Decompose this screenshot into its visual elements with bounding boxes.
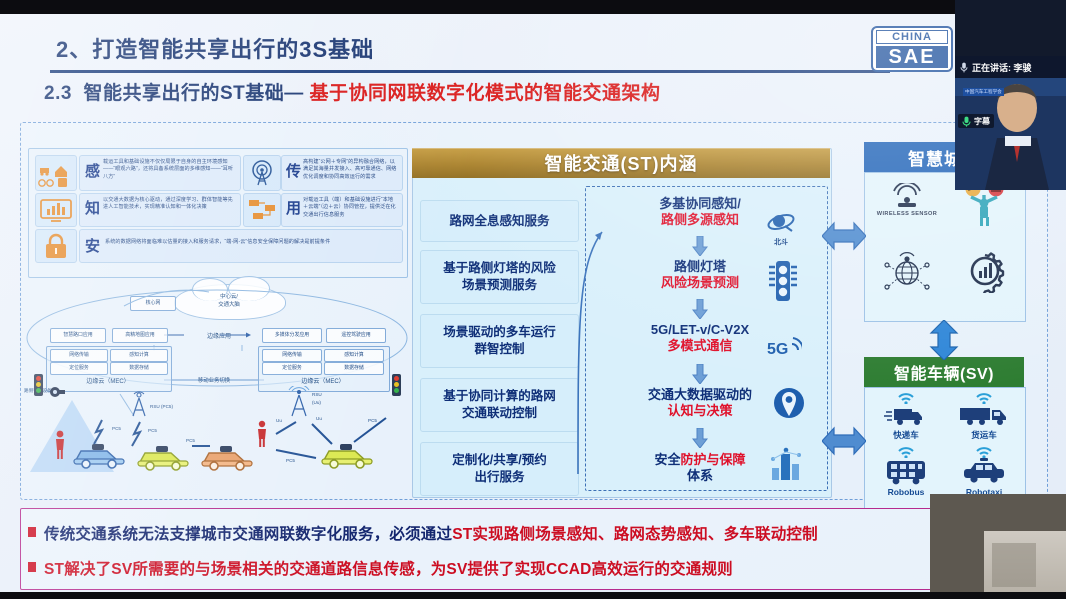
pc5-label-2: PC5 (148, 428, 157, 433)
smart-vehicle-cell-robobus: Robobus (869, 446, 943, 497)
caption-badge[interactable]: 字幕 (958, 114, 994, 128)
conclusion-line-2: ST解决了SV所需要的与场景相关的交通道路信息传感，为SV提供了实现CCAD高效… (44, 557, 733, 579)
mec-left-cell-2: 感知计算 (110, 349, 168, 362)
st-flow-5-red: 防护与保障 (681, 452, 746, 467)
st-service-label-4: 基于协同计算的路网交通联动控制 (443, 388, 556, 422)
st-service-3[interactable]: 场景驱动的多车运行群智控制 (420, 314, 579, 368)
flowchart-icon-cell (243, 193, 281, 227)
monitor-chart-icon-cell (35, 193, 77, 227)
conclusion-bullet-2 (28, 562, 36, 572)
st-flow-3-plain: 5G/LET-v/C-V2X (651, 322, 749, 337)
pc5-label-3: PC5 (186, 438, 195, 443)
subtitle-red: 基于协同网联数字化模式的智能交通架构 (310, 83, 661, 104)
conclusion-line-2-post: ，为SV提供了实现CCAD高效运行的交通规则 (415, 561, 733, 578)
capability-text-zhi: 以交通大数据为核心驱动，通过深度学习、群体智能等先进人工智能技术，实现精准认知和… (103, 197, 234, 212)
app-box-left-1: 智慧路口应用 (50, 328, 106, 343)
wifi-icon-robobus (897, 446, 915, 458)
sae-logo-line2: SAE (876, 46, 948, 68)
flow-arrow-2 (692, 299, 708, 319)
st-flow-5-plain-post: 体系 (687, 468, 713, 483)
caption-org-strip: 中国汽车工程学会 (963, 88, 1004, 96)
traffic-light-right (392, 374, 401, 396)
st-icon-beidou-caption: 北斗 (774, 237, 788, 247)
flowchart-icon (247, 197, 277, 223)
mec-right-title: 边缘云（MEC） (258, 376, 388, 385)
capability-char-chuan: 传 (286, 160, 301, 181)
transport-icons (38, 158, 74, 188)
v2x-link-layer (24, 402, 410, 482)
smart-city-cell-wireless: WIRELESS SENSOR (869, 183, 945, 217)
st-flow-5-plain-pre: 安全 (654, 452, 680, 467)
st-service-5[interactable]: 定制化/共享/预约出行服务 (420, 442, 579, 496)
flow-arrow-4 (692, 428, 708, 448)
conclusion-line-2-pre: ST解决了SV所需要的与场景相关的 (44, 561, 289, 578)
pc5-label-5: PC5 (368, 418, 377, 423)
st-flow-1-plain: 多基协同感知/ (659, 196, 741, 211)
mec-left-title: 边缘云（MEC） (46, 376, 170, 385)
bottom-black-bar (0, 592, 1066, 599)
st-panel-header: 智能交通(ST)内涵 (412, 148, 830, 178)
section-subtitle: 2.3 智能共享出行的ST基础— 基于协同网联数字化模式的智能交通架构 (44, 78, 661, 105)
conclusion-line-1-red: ST实现路侧场景感知、路网态势感知、多车联动控制 (452, 526, 818, 543)
mec-right-cell-3: 定位服务 (262, 362, 322, 375)
rsu-right-label-1: RSU (312, 392, 322, 397)
subtitle-number: 2.3 (44, 83, 72, 104)
wifi-icon-robotaxi (975, 446, 993, 458)
iot-network-globe-icon (882, 247, 932, 293)
conclusion-line-1-pre: 传统交通系统无法支撑城市交通网联数字化服务，必须通过 (44, 526, 452, 543)
mec-left-cell-3: 定位服务 (50, 362, 108, 375)
speaking-banner: 正在讲话: 李骏 (955, 56, 1066, 78)
st-service-label-2: 基于路侧灯塔的风险场景预测服务 (443, 260, 556, 294)
freight-truck-icon (958, 404, 1010, 428)
wifi-icon-van (897, 392, 915, 404)
beidou-icon (766, 212, 796, 236)
smart-city-cell-wireless-label: WIRELESS SENSOR (877, 211, 937, 217)
speaking-label: 正在讲话: 李骏 (972, 61, 1032, 74)
camera-pole-icon (46, 386, 68, 402)
edge-app-label: 边缘应用 (184, 331, 254, 340)
smart-city-cell-iot (869, 247, 945, 295)
app-box-left-2: 高精地图应用 (112, 328, 168, 343)
robobus-icon (883, 458, 929, 486)
antenna-icon (247, 159, 277, 187)
arrow-st-to-smart-vehicle (822, 424, 866, 458)
china-sae-logo: CHINA SAE (871, 26, 953, 72)
st-service-1[interactable]: 路网全息感知服务 (420, 200, 579, 242)
podium (984, 531, 1066, 599)
arrow-st-to-smart-city (822, 219, 866, 253)
sae-logo-line1: CHINA (876, 30, 948, 44)
flow-arrow-3 (692, 364, 708, 384)
flow-arrow-1 (692, 236, 708, 256)
smart-city-cell-gear (947, 249, 1023, 295)
st-flow-2-plain: 路侧灯塔 (674, 259, 726, 274)
uu-label-1: Uu (276, 418, 282, 423)
capability-text-chuan: 高构建“公网＋专网”的异构融合网络，以满足其海量并发接入、高可靠通信、网络优化调… (303, 159, 397, 181)
presentation-slide: 2、打造智能共享出行的3S基础 2.3 智能共享出行的ST基础— 基于协同网联数… (0, 14, 1066, 592)
traffic-light-icon (766, 259, 800, 303)
location-pin-icon (772, 386, 806, 424)
capability-char-yong: 用 (286, 197, 301, 218)
podium-panel (992, 543, 1036, 587)
st-flow-3-red: 多模式通信 (667, 338, 732, 353)
delivery-van-icon (884, 404, 928, 428)
gear-analytics-icon (961, 249, 1009, 293)
capability-text-gan: 载运工具和基础设施不仅仅局限于自身的自主环境感知——“眼观六路”，还将具备系统层… (103, 159, 234, 181)
subtitle-black: 智能共享出行的ST基础— (83, 83, 303, 104)
screenshot-root: 2、打造智能共享出行的3S基础 2.3 智能共享出行的ST基础— 基于协同网联数… (0, 0, 1066, 599)
capability-text-an: 系统的数据网络将面临难以估量的接入和服务请求，“端-网-云”信息安全保障问题的解… (105, 239, 397, 246)
transport-icons-cell (35, 155, 77, 191)
monitor-chart-icon (39, 197, 73, 223)
smart-vehicle-cell-robotaxi: Robotaxi (947, 446, 1021, 497)
svg-text:5G: 5G (767, 341, 788, 358)
smart-vehicle-cell-truck: 货运车 (947, 392, 1021, 441)
caption-org-tag: 中国汽车工程学会 (963, 88, 1004, 96)
5g-icon: 5G (766, 332, 802, 358)
capability-char-an: 安 (85, 235, 100, 256)
smart-vehicle-label-robobus: Robobus (888, 487, 925, 497)
conclusion-line-2-red: 交通道路信息传感 (289, 561, 415, 578)
st-service-2[interactable]: 基于路侧灯塔的风险场景预测服务 (420, 250, 579, 304)
app-box-right-1: 多媒体分发应用 (262, 328, 322, 343)
lock-icon-cell (35, 229, 77, 263)
st-flow-4: 交通大数据驱动的 认知与决策 (600, 387, 800, 419)
mec-left-cell-4: 数据存储 (110, 362, 168, 375)
title-divider (50, 70, 890, 73)
conclusion-bullet-1 (28, 527, 36, 537)
conclusion-line-1: 传统交通系统无法支撑城市交通网联数字化服务，必须通过ST实现路侧场景感知、路网态… (44, 522, 818, 544)
video-overlay[interactable]: 正在讲话: 李骏 中国汽车工程学会 字幕 (955, 0, 1066, 190)
pc5-label-4: PC5 (286, 458, 295, 463)
network-architecture-diagram: 中心云/ 交通大脑 核心网 边缘应用 智慧路口应用 高精地图应用 网 (24, 282, 410, 494)
caption-badge-label: 字幕 (974, 116, 990, 127)
robotaxi-icon (960, 458, 1008, 486)
microphone-badge-icon (962, 116, 971, 127)
microphone-icon (960, 62, 968, 73)
capability-text-yong: 对载运工具（端）和基础设施进行“本地＋云端”（边＋云）协同管控，提供泛在化交通出… (303, 197, 397, 219)
mec-right-cell-1: 网络传输 (262, 349, 322, 362)
handover-label: 移动业务切换 (176, 376, 252, 384)
lock-icon (43, 232, 69, 260)
st-flow-4-plain: 交通大数据驱动的 (648, 387, 752, 402)
uu-label-2: Uu (316, 416, 322, 421)
smart-vehicle-panel: 快递车 货运车 (864, 387, 1026, 509)
capability-card: 感 载运工具和基础设施不仅仅局限于自身的自主环境感知——“眼观六路”，还将具备系… (28, 148, 408, 278)
smart-vehicle-label-truck: 货运车 (971, 429, 997, 441)
smart-vehicle-cell-van: 快递车 (869, 392, 943, 441)
smart-city-network-icon (766, 446, 806, 484)
capability-char-gan: 感 (85, 160, 100, 181)
st-flow-2-red: 风险场景预测 (661, 275, 739, 290)
capability-char-zhi: 知 (85, 197, 100, 218)
top-black-bar (0, 0, 1066, 14)
arrow-city-to-vehicle (929, 320, 959, 360)
st-flow-1-red: 路侧多源感知 (661, 212, 739, 227)
mec-left-cell-1: 网络传输 (50, 349, 108, 362)
smart-city-panel: WIRELESS SENSOR (864, 172, 1026, 322)
st-service-label-5: 定制化/共享/预约出行服务 (452, 452, 546, 486)
smart-vehicle-header: 智能车辆(SV) (864, 357, 1024, 387)
mec-right-cell-2: 感知计算 (324, 349, 384, 362)
st-service-4[interactable]: 基于协同计算的路网交通联动控制 (420, 378, 579, 432)
antenna-icon-cell (243, 155, 281, 191)
st-icon-beidou: 北斗 (766, 212, 796, 247)
st-panel-title: 智能交通(ST)内涵 (545, 150, 698, 176)
app-box-right-2: 遥控驾驶应用 (326, 328, 386, 343)
traffic-light-left (34, 374, 43, 396)
st-icon-5g: 5G (766, 332, 802, 358)
smart-vehicle-title: 智能车辆(SV) (894, 360, 994, 384)
smart-vehicle-label-van: 快递车 (893, 429, 919, 441)
page-title: 2、打造智能共享出行的3S基础 (56, 32, 374, 64)
wifi-icon-truck (975, 392, 993, 404)
st-service-label-1: 路网全息感知服务 (449, 213, 549, 230)
pc5-label-1: PC5 (112, 426, 121, 431)
st-service-label-3: 场景驱动的多车运行群智控制 (443, 324, 556, 358)
wireless-sensor-icon (891, 183, 923, 209)
mec-right-cell-4: 数据存储 (324, 362, 384, 375)
st-flow-4-red: 认知与决策 (667, 403, 732, 418)
